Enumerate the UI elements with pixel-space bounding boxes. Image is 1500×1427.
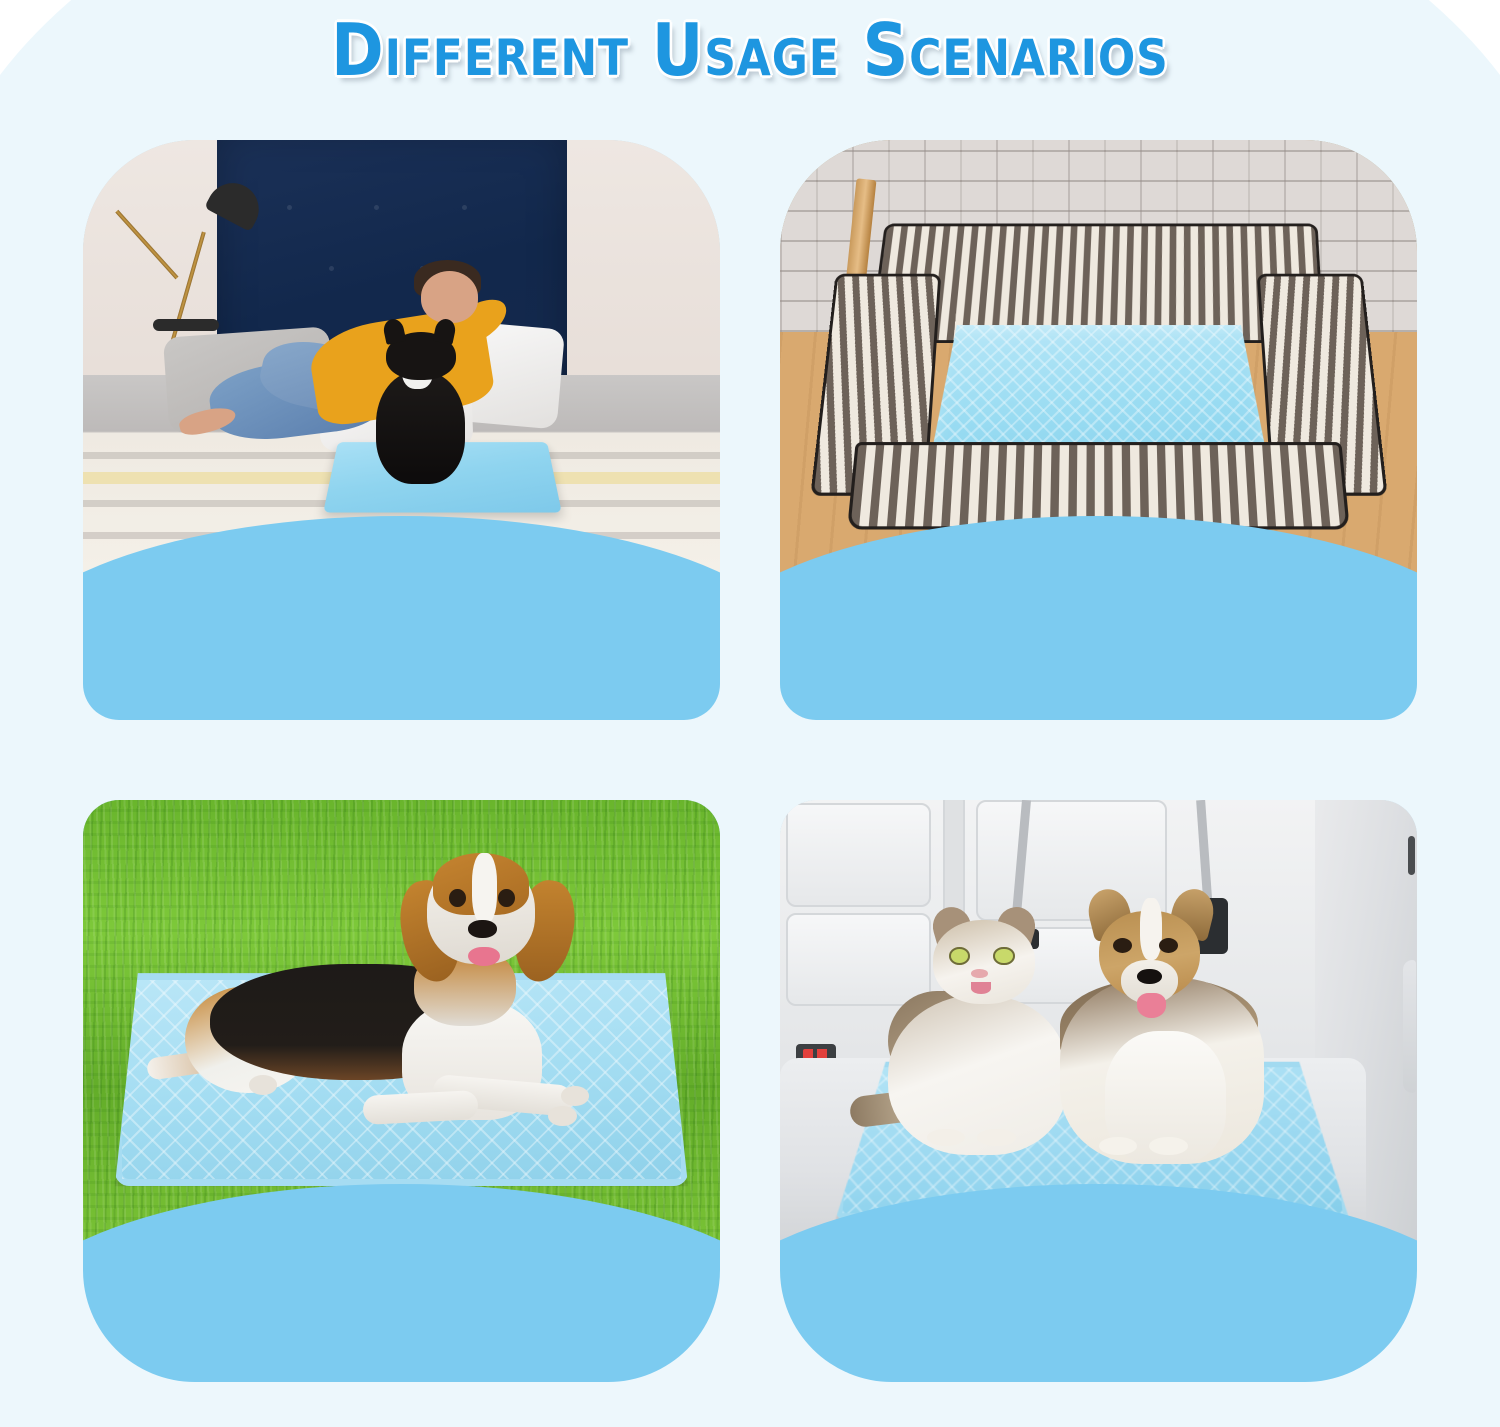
beagle-eye-left	[449, 889, 466, 907]
woman-head	[421, 271, 478, 323]
door-armrest	[1403, 960, 1416, 1093]
sheltie-eye-left	[1113, 938, 1132, 953]
cat-nose	[971, 969, 988, 978]
beagle-nose	[468, 920, 497, 938]
scenario-photo-dog-bed	[780, 140, 1417, 576]
backrest-panel-c	[943, 800, 965, 921]
cat-paw-left	[927, 1129, 965, 1147]
striped-dog-bed	[806, 223, 1391, 529]
scenario-card-grassland[interactable]: Grassland	[83, 800, 720, 1382]
scenario-grid: Bed	[83, 140, 1417, 1382]
cat-body	[888, 995, 1066, 1155]
beagle-blaze	[472, 853, 497, 924]
infographic-page: Different Usage Scenarios	[0, 0, 1500, 1427]
cat-paw-right	[977, 1129, 1015, 1147]
backrest-panel-d	[976, 800, 1167, 921]
sheltie-blaze	[1140, 898, 1162, 960]
beagle-front-leg-left	[363, 1090, 479, 1125]
cat-eye-right	[993, 947, 1015, 966]
car-interior-scene	[780, 800, 1417, 1244]
scenario-photo-car	[780, 800, 1417, 1244]
page-title-text: Different Usage Scenarios	[331, 4, 1169, 96]
page-title: Different Usage Scenarios	[0, 4, 1500, 100]
sheltie-tongue	[1137, 993, 1166, 1017]
cat-mouth	[971, 982, 991, 994]
scenario-photo-grassland	[83, 800, 720, 1244]
scenario-card-bed[interactable]: Bed	[83, 140, 720, 720]
sheltie-paw-left	[1099, 1137, 1137, 1155]
lamp-base	[153, 319, 219, 331]
sheltie-paw-right	[1149, 1137, 1187, 1155]
backrest-panel-b	[786, 913, 932, 1007]
beagle-eye-right	[498, 889, 515, 907]
scenario-card-car[interactable]: Car	[780, 800, 1417, 1382]
door-handle	[1408, 836, 1415, 876]
sheltie-nose	[1137, 969, 1162, 984]
backrest-panel-a	[786, 803, 932, 908]
beagle-paw-2	[548, 1106, 577, 1126]
dog-bed-scene	[780, 140, 1417, 576]
scenario-card-dog-bed[interactable]: Dog Bed	[780, 140, 1417, 720]
sheltie-eye-right	[1159, 938, 1178, 953]
scenario-photo-bed	[83, 140, 720, 576]
bedroom-scene	[83, 140, 720, 576]
